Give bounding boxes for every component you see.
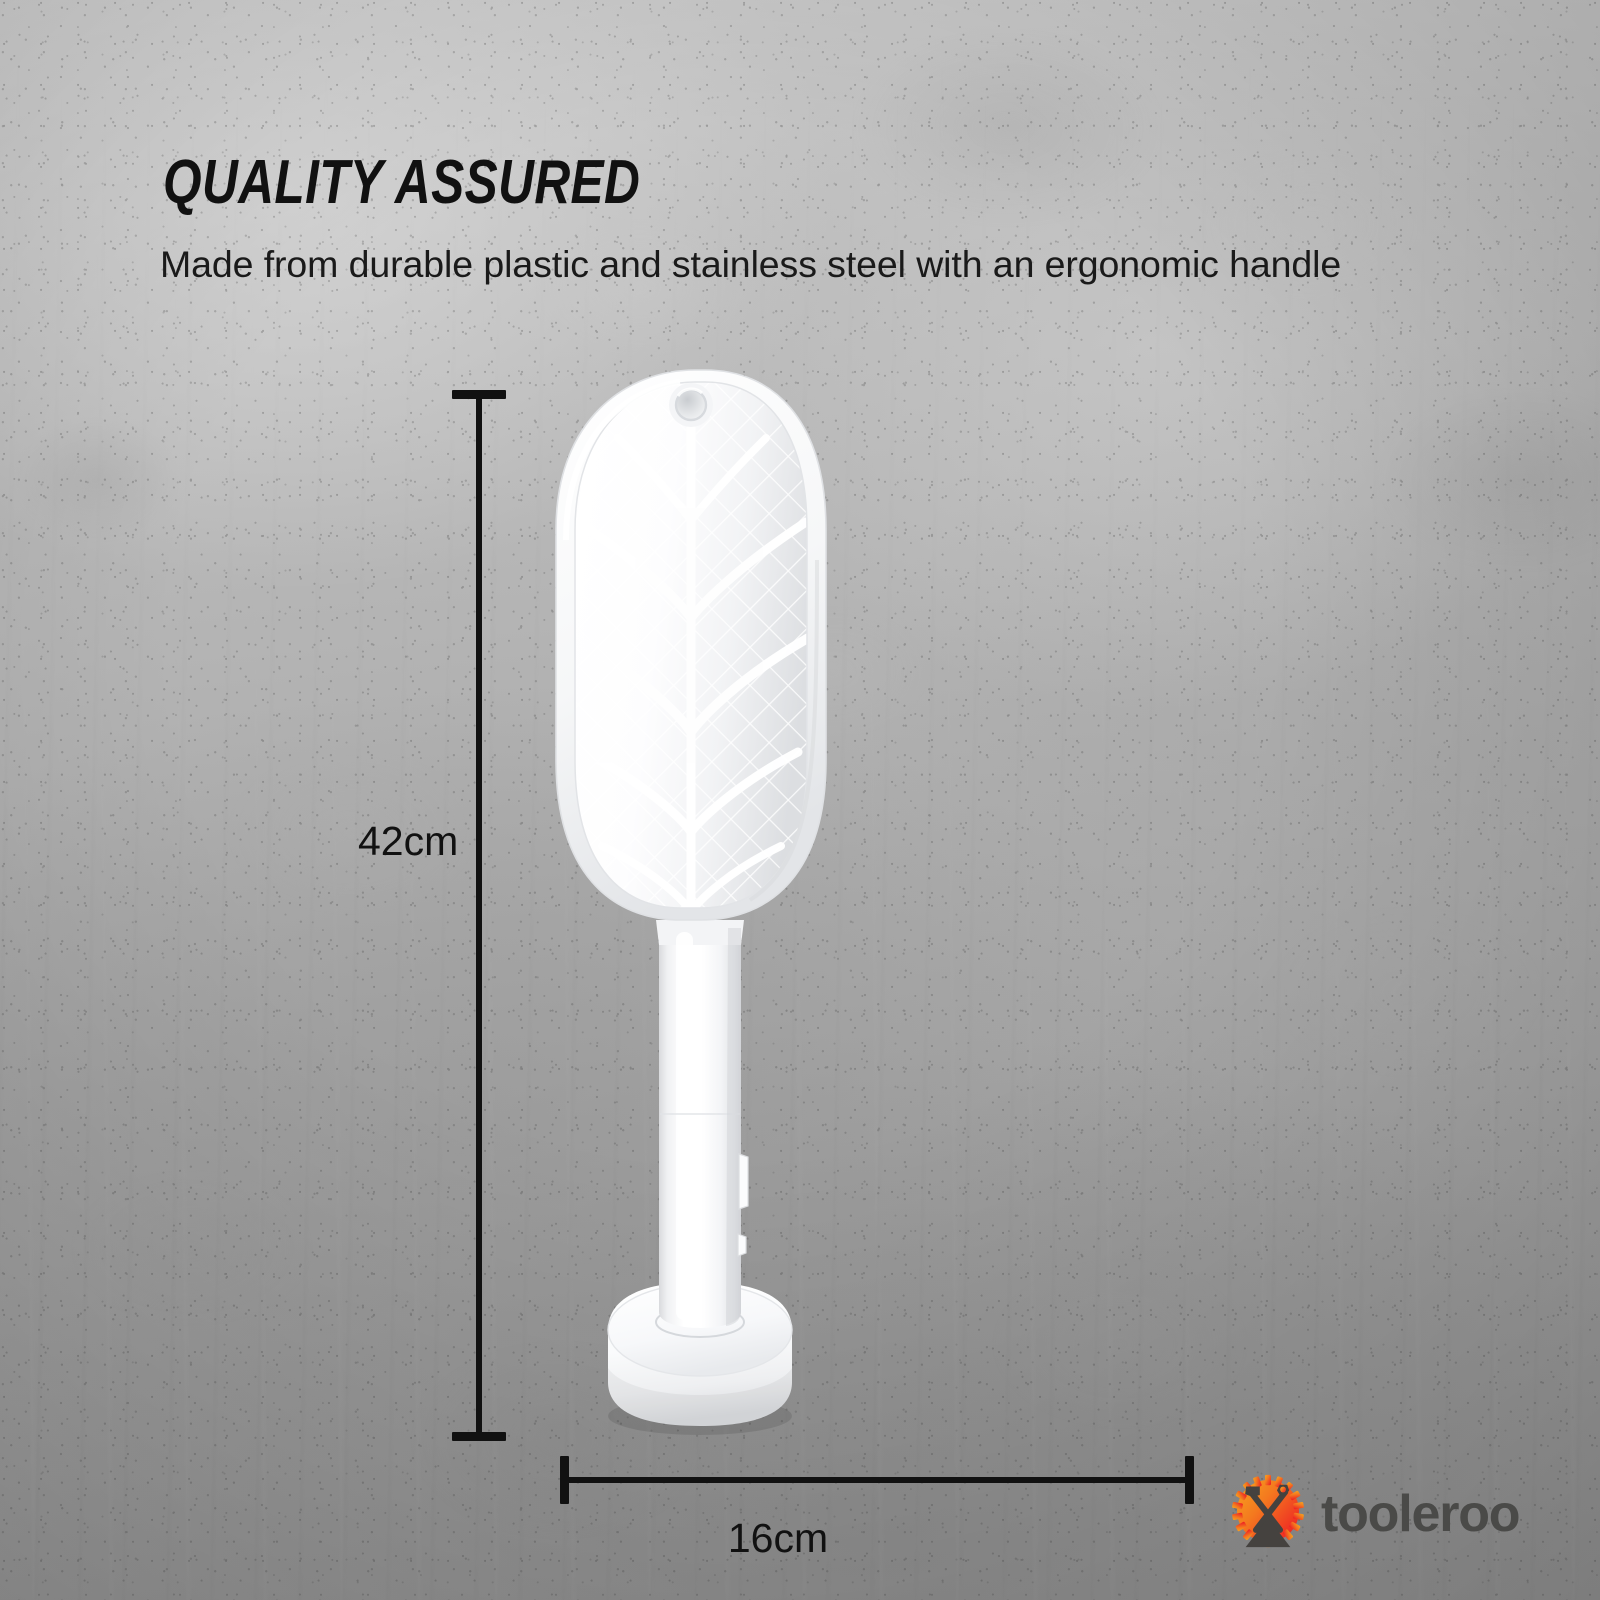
power-switch xyxy=(739,1154,748,1209)
product-image xyxy=(540,360,1040,1450)
height-dimension-label: 42cm xyxy=(358,818,458,865)
saw-blade-crossed-tools-icon xyxy=(1225,1468,1311,1554)
brand-wordmark: tooleroo xyxy=(1321,1488,1519,1540)
width-dimension-line xyxy=(562,1477,1192,1483)
handle xyxy=(656,920,744,1328)
infographic-canvas: QUALITY ASSURED Made from durable plasti… xyxy=(0,0,1600,1600)
width-dimension-label: 16cm xyxy=(728,1515,828,1561)
subheadline: Made from durable plastic and stainless … xyxy=(160,243,1341,286)
brand-logo: tooleroo xyxy=(1225,1468,1519,1554)
height-dimension-line xyxy=(476,392,482,1440)
headline: QUALITY ASSURED xyxy=(163,152,640,214)
racket-head xyxy=(540,360,840,940)
indicator-button xyxy=(738,1234,746,1256)
height-dimension-cap-bottom xyxy=(452,1432,506,1441)
hanging-hole xyxy=(669,383,713,427)
width-dimension-cap-right xyxy=(1185,1456,1194,1504)
